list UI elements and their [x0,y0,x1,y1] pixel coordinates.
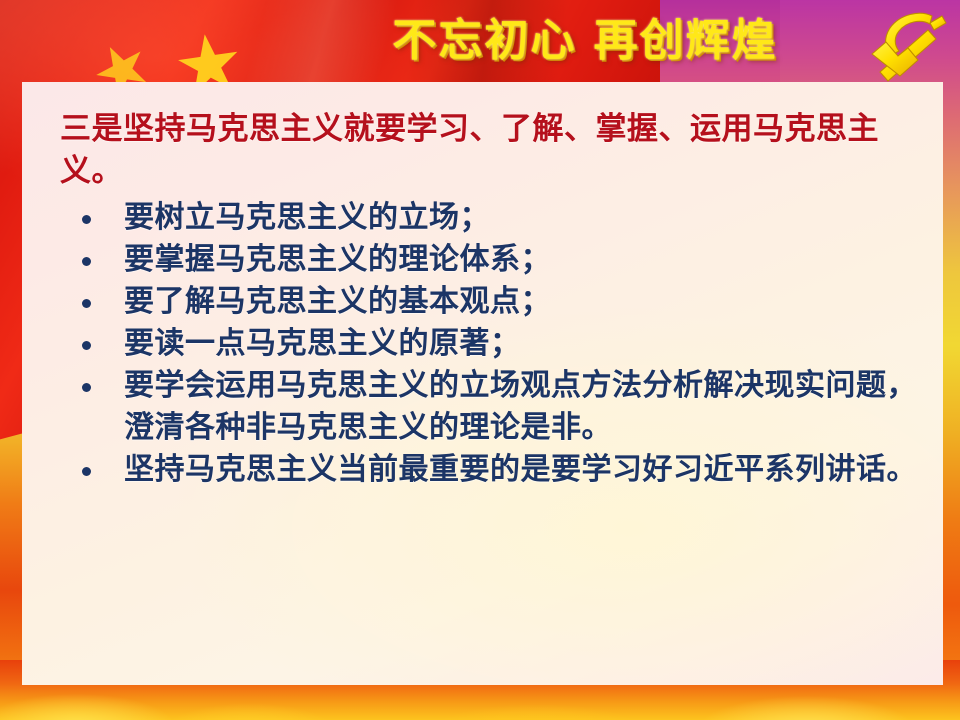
cpc-hammer-sickle-emblem [856,6,954,84]
slide: 中华人民共和国万岁 不忘初心 再创辉煌 [0,0,960,720]
list-item: 坚持马克思主义当前最重要的是要学习好习近平系列讲话。 [62,449,925,491]
slide-header: 不忘初心 再创辉煌 [0,0,960,84]
page-title: 不忘初心 再创辉煌 [350,14,820,68]
section-heading: 三是坚持马克思主义就要学习、了解、掌握、运用马克思主义。 [42,108,925,192]
list-item: 要树立马克思主义的立场； [62,197,925,239]
list-item: 要掌握马克思主义的理论体系； [62,239,925,281]
bullet-list: 要树立马克思主义的立场； 要掌握马克思主义的理论体系； 要了解马克思主义的基本观… [42,197,925,491]
list-item: 要学会运用马克思主义的立场观点方法分析解决现实问题，澄清各种非马克思主义的理论是… [62,365,925,449]
list-item: 要了解马克思主义的基本观点； [62,281,925,323]
content-panel: 三是坚持马克思主义就要学习、了解、掌握、运用马克思主义。 要树立马克思主义的立场… [22,82,943,685]
list-item: 要读一点马克思主义的原著； [62,323,925,365]
